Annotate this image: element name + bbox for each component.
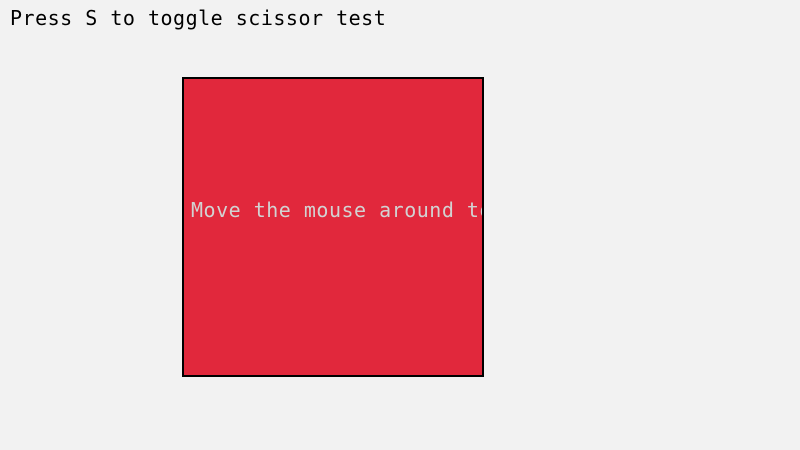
app-canvas: Press S to toggle scissor test Move the … (0, 0, 800, 450)
scissor-test-rectangle[interactable]: Move the mouse around to r (182, 77, 484, 377)
scissor-toggle-hint-label: Press S to toggle scissor test (10, 7, 386, 29)
scissor-clipped-message: Move the mouse around to r (191, 199, 484, 221)
